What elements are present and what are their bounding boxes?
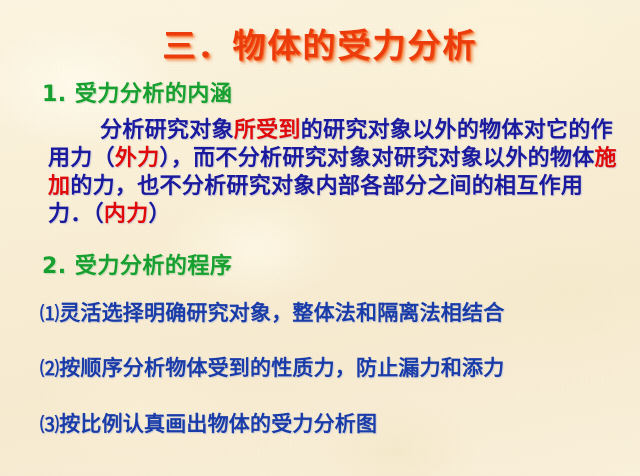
section-heading-2: 2. 受力分析的程序 bbox=[42, 248, 232, 280]
step-text: 按比例认真画出物体的受力分析图 bbox=[59, 412, 377, 436]
step-number: ⑶ bbox=[40, 414, 59, 436]
slide-canvas: 三．物体的受力分析 1. 受力分析的内涵 分析研究对象所受到的研究对象以外的物体… bbox=[0, 0, 640, 476]
step-text: 灵活选择明确研究对象，整体法和隔离法相结合 bbox=[59, 301, 504, 325]
step-list-item: ⑴灵活选择明确研究对象，整体法和隔离法相结合 bbox=[40, 297, 504, 327]
para-text-5: ） bbox=[149, 202, 171, 227]
step-list-item: ⑶按比例认真画出物体的受力分析图 bbox=[40, 408, 377, 438]
step-list-item: ⑵按顺序分析物体受到的性质力，防止漏力和添力 bbox=[40, 352, 504, 382]
step-number: ⑵ bbox=[40, 358, 59, 380]
para-highlight-2: 外力 bbox=[115, 146, 160, 171]
para-text-1: 分析研究对象 bbox=[100, 118, 234, 143]
slide-content: 三．物体的受力分析 1. 受力分析的内涵 分析研究对象所受到的研究对象以外的物体… bbox=[0, 0, 640, 476]
para-highlight-1: 所受到 bbox=[234, 118, 301, 143]
para-highlight-4: 内力 bbox=[104, 202, 149, 227]
step-text: 按顺序分析物体受到的性质力，防止漏力和添力 bbox=[59, 356, 504, 380]
section-heading-1: 1. 受力分析的内涵 bbox=[42, 76, 232, 108]
section-1-paragraph: 分析研究对象所受到的研究对象以外的物体对它的作用力（外力），而不分析研究对象对研… bbox=[48, 117, 620, 229]
step-number: ⑴ bbox=[40, 303, 59, 325]
para-text-3: ），而不分析研究对象对研究对象以外的物体 bbox=[160, 146, 595, 171]
slide-title: 三．物体的受力分析 bbox=[0, 19, 640, 67]
